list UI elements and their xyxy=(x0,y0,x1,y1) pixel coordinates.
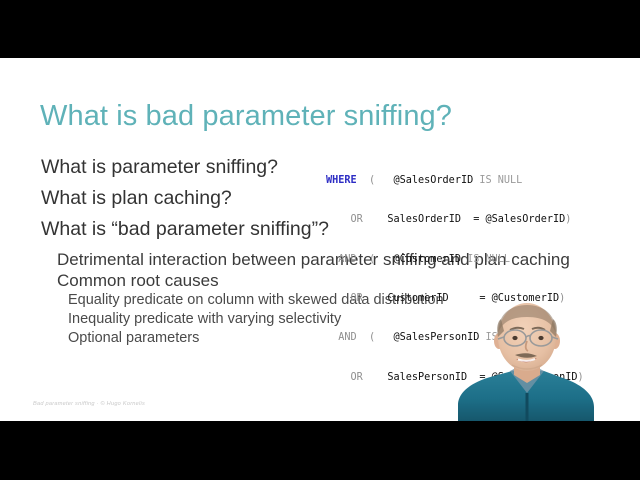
presentation-slide: What is bad parameter sniffing? What is … xyxy=(0,58,640,421)
sql-paren-3: ( xyxy=(357,254,394,265)
sql-keyword-or-3: OR xyxy=(326,372,363,383)
sql-paren-2 xyxy=(363,214,388,225)
sql-keyword-and-2: AND xyxy=(326,332,357,343)
sql-paren-1: ( xyxy=(357,175,394,186)
code-line-3: AND ( @CustomerID IS NULL xyxy=(326,253,584,266)
sql-tail-2: = @SalesOrderID xyxy=(461,214,565,225)
sql-keyword-where: WHERE xyxy=(326,175,357,186)
sql-paren-4 xyxy=(363,293,388,304)
sql-paren-6 xyxy=(363,372,388,383)
sql-close-paren-2: ) xyxy=(565,214,571,225)
sql-keyword-and-1: AND xyxy=(326,254,357,265)
letterbox-bottom xyxy=(0,421,640,480)
code-line-2: OR SalesOrderID = @SalesOrderID) xyxy=(326,213,584,226)
sql-paren-5: ( xyxy=(357,332,394,343)
presenter-eye-right xyxy=(538,336,543,340)
page-title: What is bad parameter sniffing? xyxy=(40,102,452,131)
presenter-webcam-overlay xyxy=(452,301,602,421)
slide-footer: Bad parameter sniffing · © Hugo Kornelis xyxy=(33,401,145,407)
sql-keyword-or-2: OR xyxy=(326,293,363,304)
sql-tail-3: IS NULL xyxy=(461,254,510,265)
sql-identifier-1: @SalesOrderID xyxy=(393,175,473,186)
sql-identifier-4: CustomerID xyxy=(387,293,448,304)
sql-keyword-or-1: OR xyxy=(326,214,363,225)
sql-tail-1: IS NULL xyxy=(473,175,522,186)
code-line-1: WHERE ( @SalesOrderID IS NULL xyxy=(326,174,584,187)
sql-identifier-2: SalesOrderID xyxy=(387,214,461,225)
letterbox-top xyxy=(0,0,640,58)
sql-identifier-3: @CustomerID xyxy=(393,254,460,265)
video-frame: What is bad parameter sniffing? What is … xyxy=(0,0,640,480)
presenter-eye-left xyxy=(512,336,517,340)
presenter-portrait xyxy=(452,301,602,421)
